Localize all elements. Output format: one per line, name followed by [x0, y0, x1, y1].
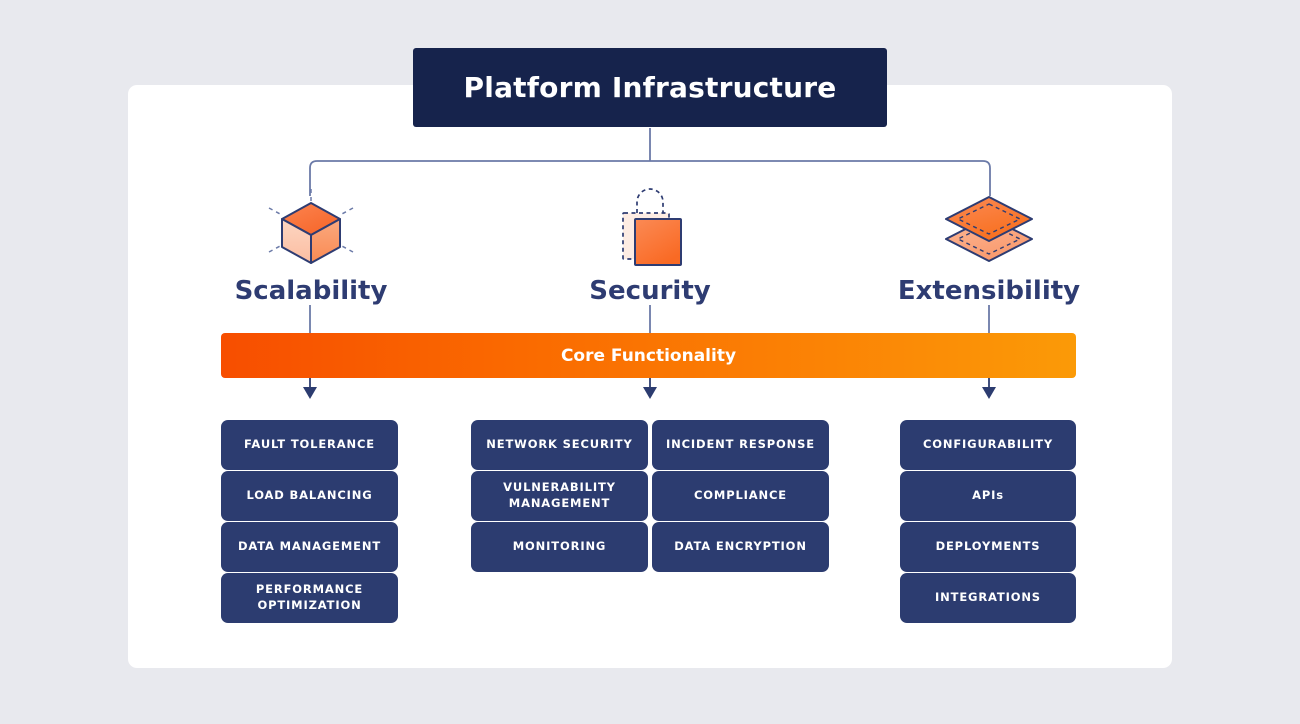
leaf-box-label: PERFORMANCEOPTIMIZATION	[256, 582, 363, 613]
padlock-icon	[585, 186, 715, 276]
leaf-box-label: MONITORING	[513, 539, 606, 555]
column-security-items-right: INCIDENT RESPONSECOMPLIANCEDATA ENCRYPTI…	[652, 420, 829, 573]
pillar-label-scalability: Scalability	[181, 276, 441, 306]
cube-3d-icon	[246, 186, 376, 276]
leaf-box[interactable]: INCIDENT RESPONSE	[652, 420, 829, 470]
leaf-box[interactable]: DATA ENCRYPTION	[652, 522, 829, 572]
pillar-label-security: Security	[520, 276, 780, 306]
column-extensibility-items: CONFIGURABILITYAPIsDEPLOYMENTSINTEGRATIO…	[900, 420, 1076, 624]
diagram-stage: Platform Infrastructure	[0, 0, 1300, 724]
diagram-title-banner: Platform Infrastructure	[413, 48, 887, 127]
leaf-box-label: FAULT TOLERANCE	[244, 437, 375, 453]
leaf-box[interactable]: CONFIGURABILITY	[900, 420, 1076, 470]
leaf-box-label: DATA ENCRYPTION	[674, 539, 807, 555]
pillar-label-extensibility: Extensibility	[859, 276, 1119, 306]
leaf-box-label: NETWORK SECURITY	[486, 437, 632, 453]
leaf-box[interactable]: FAULT TOLERANCE	[221, 420, 398, 470]
leaf-box-label: INCIDENT RESPONSE	[666, 437, 815, 453]
leaf-box[interactable]: MONITORING	[471, 522, 648, 572]
leaf-box[interactable]: VULNERABILITYMANAGEMENT	[471, 471, 648, 521]
leaf-box[interactable]: NETWORK SECURITY	[471, 420, 648, 470]
leaf-box-label: CONFIGURABILITY	[923, 437, 1053, 453]
core-functionality-bar: Core Functionality	[221, 333, 1076, 378]
column-security-items-left: NETWORK SECURITYVULNERABILITYMANAGEMENTM…	[471, 420, 648, 573]
leaf-box[interactable]: APIs	[900, 471, 1076, 521]
leaf-box-label: COMPLIANCE	[694, 488, 787, 504]
leaf-box-label: DEPLOYMENTS	[936, 539, 1041, 555]
leaf-box[interactable]: COMPLIANCE	[652, 471, 829, 521]
leaf-box[interactable]: INTEGRATIONS	[900, 573, 1076, 623]
leaf-box[interactable]: DATA MANAGEMENT	[221, 522, 398, 572]
stacked-layers-icon	[924, 186, 1054, 276]
leaf-box[interactable]: LOAD BALANCING	[221, 471, 398, 521]
leaf-box-label: DATA MANAGEMENT	[238, 539, 381, 555]
column-scalability-items: FAULT TOLERANCELOAD BALANCINGDATA MANAGE…	[221, 420, 398, 624]
leaf-box[interactable]: PERFORMANCEOPTIMIZATION	[221, 573, 398, 623]
leaf-box-label: APIs	[972, 488, 1004, 504]
page-title: Platform Infrastructure	[464, 71, 837, 104]
leaf-box-label: VULNERABILITYMANAGEMENT	[503, 480, 616, 511]
core-functionality-label: Core Functionality	[561, 346, 736, 366]
leaf-box-label: LOAD BALANCING	[246, 488, 372, 504]
leaf-box-label: INTEGRATIONS	[935, 590, 1041, 606]
leaf-box[interactable]: DEPLOYMENTS	[900, 522, 1076, 572]
